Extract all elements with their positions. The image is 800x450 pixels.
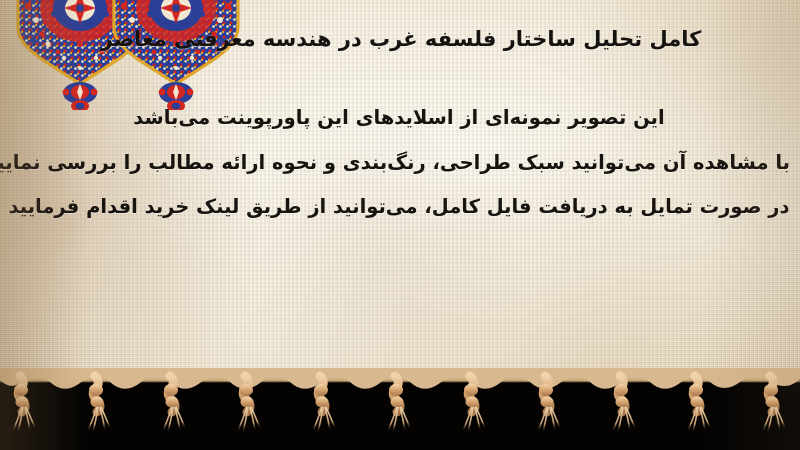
slide-canvas: کامل تحلیل ساختار فلسفه غرب در هندسه معر… bbox=[0, 0, 800, 450]
slide-title: کامل تحلیل ساختار فلسفه غرب در هندسه معر… bbox=[16, 26, 786, 52]
body-line: در صورت تمایل به دریافت فایل کامل، می‌تو… bbox=[8, 197, 790, 217]
body-line: با مشاهده آن می‌توانید سبک طراحی، رنگ‌بن… bbox=[8, 153, 790, 173]
carpet-knotted-fringe bbox=[0, 368, 800, 450]
slide-body: این تصویر نمونه‌ای از اسلایدهای این پاور… bbox=[8, 108, 790, 217]
persian-pendant-drop-left bbox=[63, 82, 98, 110]
body-line: این تصویر نمونه‌ای از اسلایدهای این پاور… bbox=[8, 108, 790, 128]
persian-medallion-ornament-right bbox=[110, 0, 242, 110]
fringe-tassels bbox=[0, 368, 800, 450]
